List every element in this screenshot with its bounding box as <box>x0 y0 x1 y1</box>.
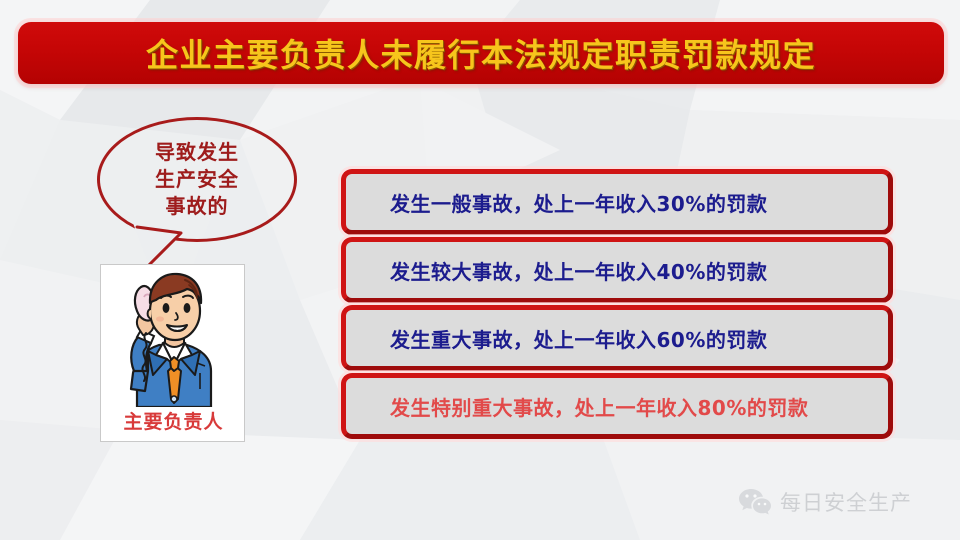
callout-line-1: 导致发生 <box>97 139 297 166</box>
callout-bubble-text: 导致发生 生产安全 事故的 <box>97 139 297 220</box>
penalty-row[interactable]: 发生较大事故，处上一年收入40%的罚款 <box>341 237 893 303</box>
watermark: 每日安全生产 <box>738 483 918 521</box>
wechat-icon <box>738 487 772 517</box>
penalty-text: 发生特别重大事故，处上一年收入80%的罚款 <box>346 392 808 421</box>
callout-line-2: 生产安全 <box>97 166 297 193</box>
penalty-text: 发生一般事故，处上一年收入30%的罚款 <box>346 188 767 217</box>
penalty-row[interactable]: 发生一般事故，处上一年收入30%的罚款 <box>341 169 893 235</box>
penalty-text: 发生重大事故，处上一年收入60%的罚款 <box>346 324 767 353</box>
callout-line-3: 事故的 <box>97 193 297 220</box>
person-illustration-card: 主要负责人 <box>100 264 245 442</box>
penalty-row[interactable]: 发生特别重大事故，处上一年收入80%的罚款 <box>341 373 893 439</box>
callout-bubble-tail <box>131 221 193 267</box>
penalty-text: 发生较大事故，处上一年收入40%的罚款 <box>346 256 767 285</box>
person-caption: 主要负责人 <box>101 407 245 434</box>
callout-bubble: 导致发生 生产安全 事故的 <box>97 117 297 267</box>
slide-canvas: 企业主要负责人未履行本法规定职责罚款规定 导致发生 生产安全 事故的 <box>0 0 960 540</box>
title-banner: 企业主要负责人未履行本法规定职责罚款规定 <box>18 22 944 84</box>
man-on-telephone-icon <box>101 267 245 407</box>
page-title: 企业主要负责人未履行本法规定职责罚款规定 <box>146 30 816 76</box>
watermark-text: 每日安全生产 <box>780 487 912 517</box>
penalty-row[interactable]: 发生重大事故，处上一年收入60%的罚款 <box>341 305 893 371</box>
